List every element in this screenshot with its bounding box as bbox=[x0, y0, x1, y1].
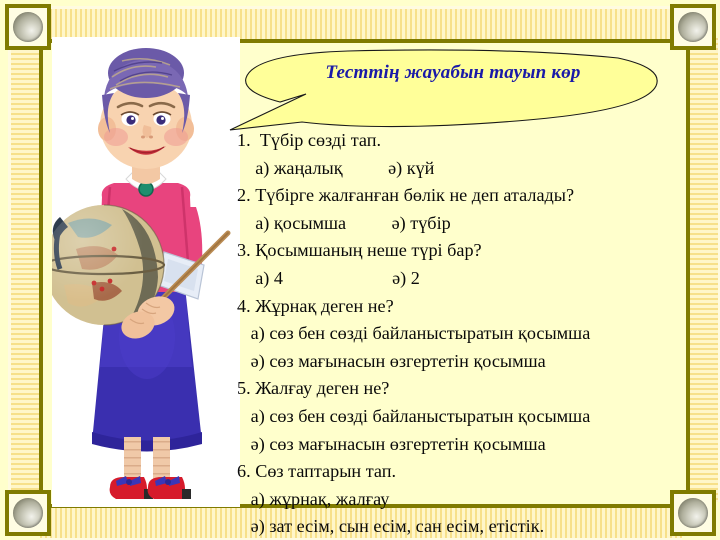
question-option: а) жұрнақ, жалғау bbox=[237, 486, 707, 514]
sphere-icon bbox=[678, 12, 708, 42]
question-prompt: 2. Түбірге жалғанған бөлік не деп аталад… bbox=[237, 182, 707, 210]
question-option: ә) сөз мағынасын өзгертетін қосымша bbox=[237, 431, 707, 459]
question-prompt: 4. Жұрнақ деген не? bbox=[237, 293, 707, 321]
question-option: а) 4 ә) 2 bbox=[237, 265, 707, 293]
question-option: ә) зат есім, сын есім, сан есім, етістік… bbox=[237, 513, 707, 540]
question-prompt: 3. Қосымшаның неше түрі бар? bbox=[237, 237, 707, 265]
question-prompt: 1. Түбір сөзді тап. bbox=[237, 127, 707, 155]
sphere-icon bbox=[13, 498, 43, 528]
question-option: а) сөз бен сөзді байланыстыратын қосымша bbox=[237, 403, 707, 431]
question-prompt: 5. Жалғау деген не? bbox=[237, 375, 707, 403]
sphere-icon bbox=[13, 12, 43, 42]
corner-ornament-bottom-left bbox=[5, 490, 51, 536]
corner-ornament-top-left bbox=[5, 4, 51, 50]
question-option: а) жаңалық ә) күй bbox=[237, 155, 707, 183]
corner-ornament-top-right bbox=[670, 4, 716, 50]
teacher-illustration bbox=[52, 37, 240, 507]
illustration-panel bbox=[52, 37, 240, 507]
speech-bubble-text: Тесттің жауабын тауып көр bbox=[268, 62, 638, 84]
question-option: а) қосымша ә) түбір bbox=[237, 210, 707, 238]
slide-canvas: Тесттің жауабын тауып көр 1. Түбір сөзді… bbox=[0, 0, 720, 540]
frame-bar-left bbox=[8, 38, 43, 502]
question-prompt: 6. Сөз таптарын тап. bbox=[237, 458, 707, 486]
question-option: ә) сөз мағынасын өзгертетін қосымша bbox=[237, 348, 707, 376]
question-option: а) сөз бен сөзді байланыстыратын қосымша bbox=[237, 320, 707, 348]
test-questions-list: 1. Түбір сөзді тап. а) жаңалық ә) күй2. … bbox=[237, 127, 707, 540]
